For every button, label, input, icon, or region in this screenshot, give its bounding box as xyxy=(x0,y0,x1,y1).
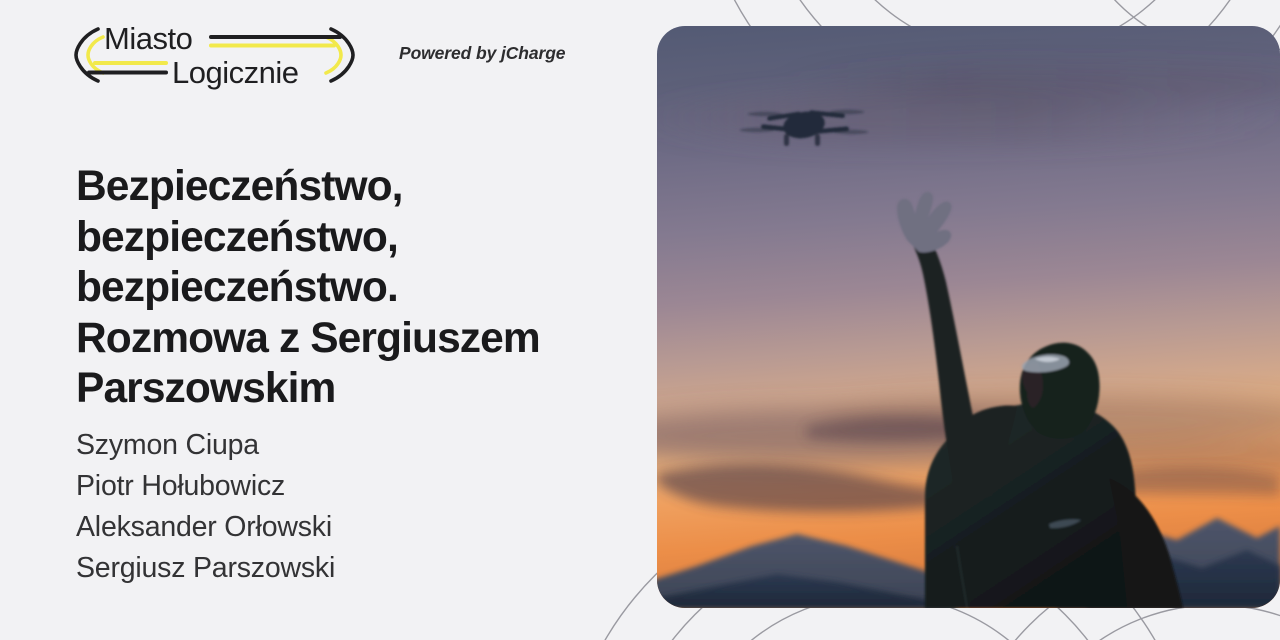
drone-leg-right xyxy=(815,134,820,146)
speaker-list: Szymon Ciupa Piotr Hołubowicz Aleksander… xyxy=(76,425,616,589)
page-title: Bezpieczeństwo, bezpieczeństwo, bezpiecz… xyxy=(76,162,636,415)
logo-word-miasto: Miasto xyxy=(104,21,192,56)
speaker-name-2: Piotr Hołubowicz xyxy=(76,466,616,507)
drone-prop-3 xyxy=(740,128,774,132)
logo-bracket-left-inner xyxy=(88,37,103,73)
speaker-name-4: Sergiusz Parszowski xyxy=(76,548,616,589)
title-line-1: Bezpieczeństwo, xyxy=(76,162,636,213)
logo-bracket-right-inner xyxy=(326,37,341,73)
powered-by-label: Powered by jCharge xyxy=(399,43,565,64)
logo-word-logicznie: Logicznie xyxy=(172,55,298,90)
drone-prop-4 xyxy=(834,130,868,134)
drone-prop-2 xyxy=(830,110,864,114)
logo-mark: Miasto Logicznie xyxy=(72,17,357,91)
hero-photo xyxy=(657,26,1280,608)
deco-arc-bottom-4 xyxy=(1010,605,1280,640)
title-line-2: bezpieczeństwo, xyxy=(76,213,636,264)
drone-prop-1 xyxy=(748,112,782,116)
speaker-name-3: Aleksander Orłowski xyxy=(76,507,616,548)
title-line-4: Rozmowa z Sergiuszem xyxy=(76,314,636,365)
miasto-logicznie-logo[interactable]: Miasto Logicznie xyxy=(72,17,357,91)
title-line-3: bezpieczeństwo. xyxy=(76,263,636,314)
drone-leg-left xyxy=(784,134,789,146)
title-line-5: Parszowskim xyxy=(76,364,636,415)
speaker-name-1: Szymon Ciupa xyxy=(76,425,616,466)
hero-photo-illustration xyxy=(657,26,1280,608)
left-content-column: Miasto Logicznie Powered by jCharge Bezp… xyxy=(0,0,660,640)
